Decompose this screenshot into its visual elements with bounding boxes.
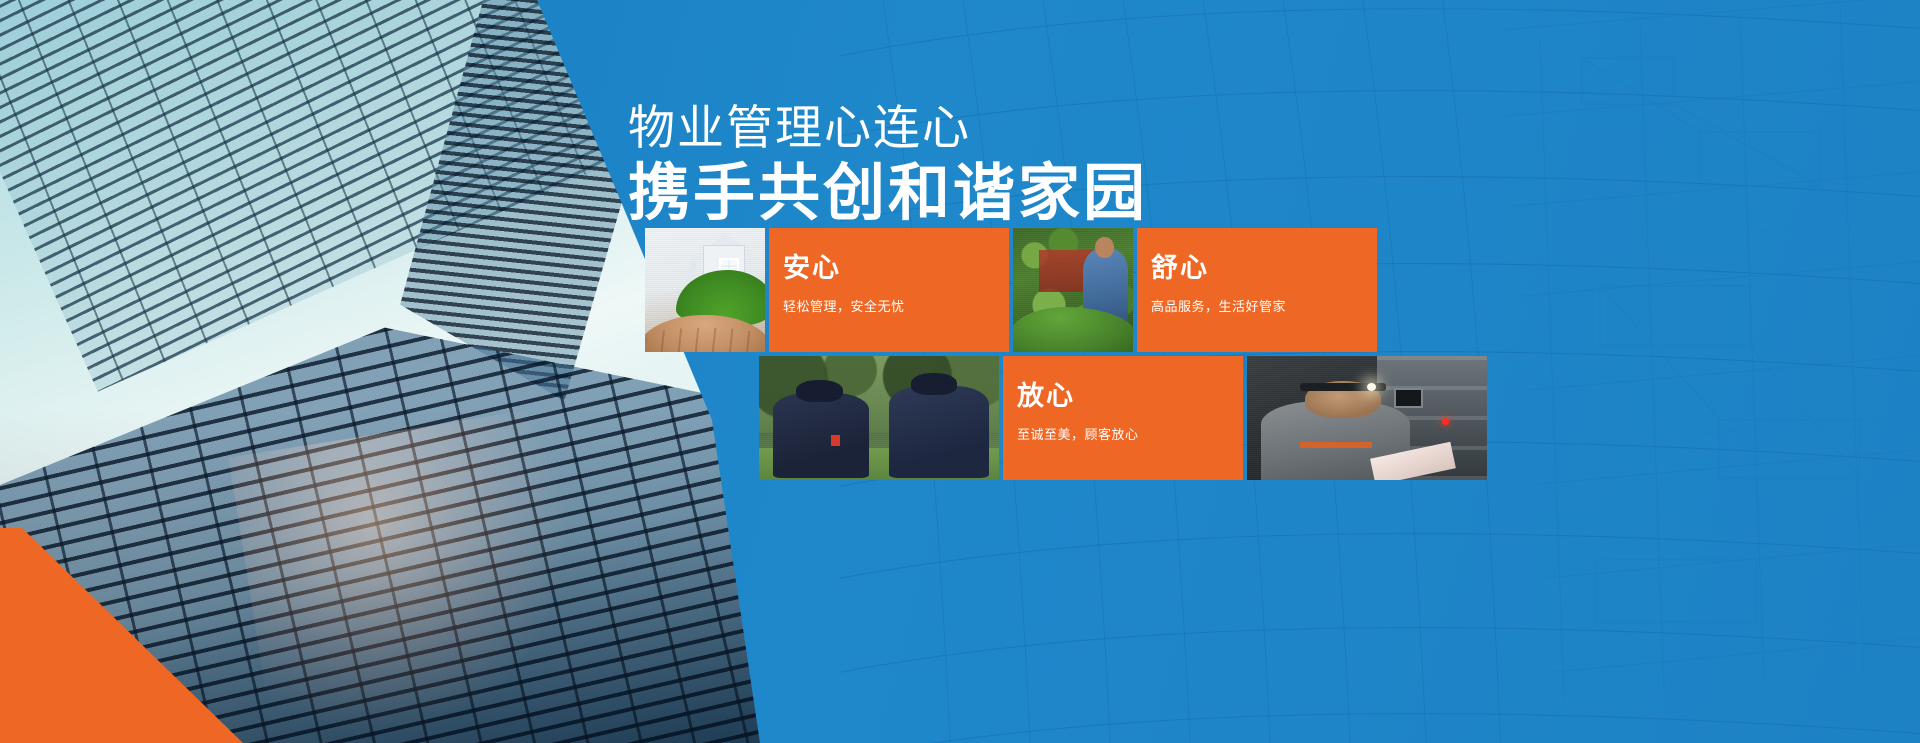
card-image-hands-house — [645, 228, 765, 352]
card-shuxin-desc: 高品服务，生活好管家 — [1151, 296, 1377, 315]
feature-card-row-bottom: 放心 至诚至美，顾客放心 — [759, 356, 1253, 480]
uniform-stripe-shape — [1300, 442, 1372, 448]
card-image-security-guards — [759, 356, 999, 480]
headline-title: 携手共创和谐家园 — [628, 159, 1328, 228]
card-anxin-title: 安心 — [783, 254, 1009, 284]
feature-card-grid: 安心 轻松管理，安全无忧 舒心 高品服务，生活好管家 — [645, 228, 1253, 480]
card-image-electrician — [1247, 356, 1487, 480]
card-fangxin-desc: 至诚至美，顾客放心 — [1017, 424, 1243, 443]
headlamp-light-shape — [1367, 383, 1376, 391]
card-fangxin-title: 放心 — [1017, 382, 1243, 412]
guard-figure-right-shape — [889, 386, 990, 478]
card-shuxin-title: 舒心 — [1151, 254, 1377, 284]
promo-banner: 物业管理心连心 携手共创和谐家园 安心 轻松管理，安全无忧 — [0, 0, 1920, 743]
card-shuxin: 舒心 高品服务，生活好管家 — [1137, 228, 1377, 352]
feature-card-row-top: 安心 轻松管理，安全无忧 舒心 高品服务，生活好管家 — [645, 228, 1253, 352]
card-anxin-desc: 轻松管理，安全无忧 — [783, 296, 1009, 315]
card-anxin: 安心 轻松管理，安全无忧 — [769, 228, 1009, 352]
headline-subtitle: 物业管理心连心 — [628, 100, 1328, 155]
indicator-led-shape — [1442, 418, 1449, 425]
card-fangxin: 放心 至诚至美，顾客放心 — [1003, 356, 1243, 480]
headline-block: 物业管理心连心 携手共创和谐家园 — [628, 100, 1328, 229]
guard-figure-left-shape — [773, 393, 869, 477]
flag-badge-shape — [831, 435, 840, 446]
card-image-gardener — [1013, 228, 1133, 352]
